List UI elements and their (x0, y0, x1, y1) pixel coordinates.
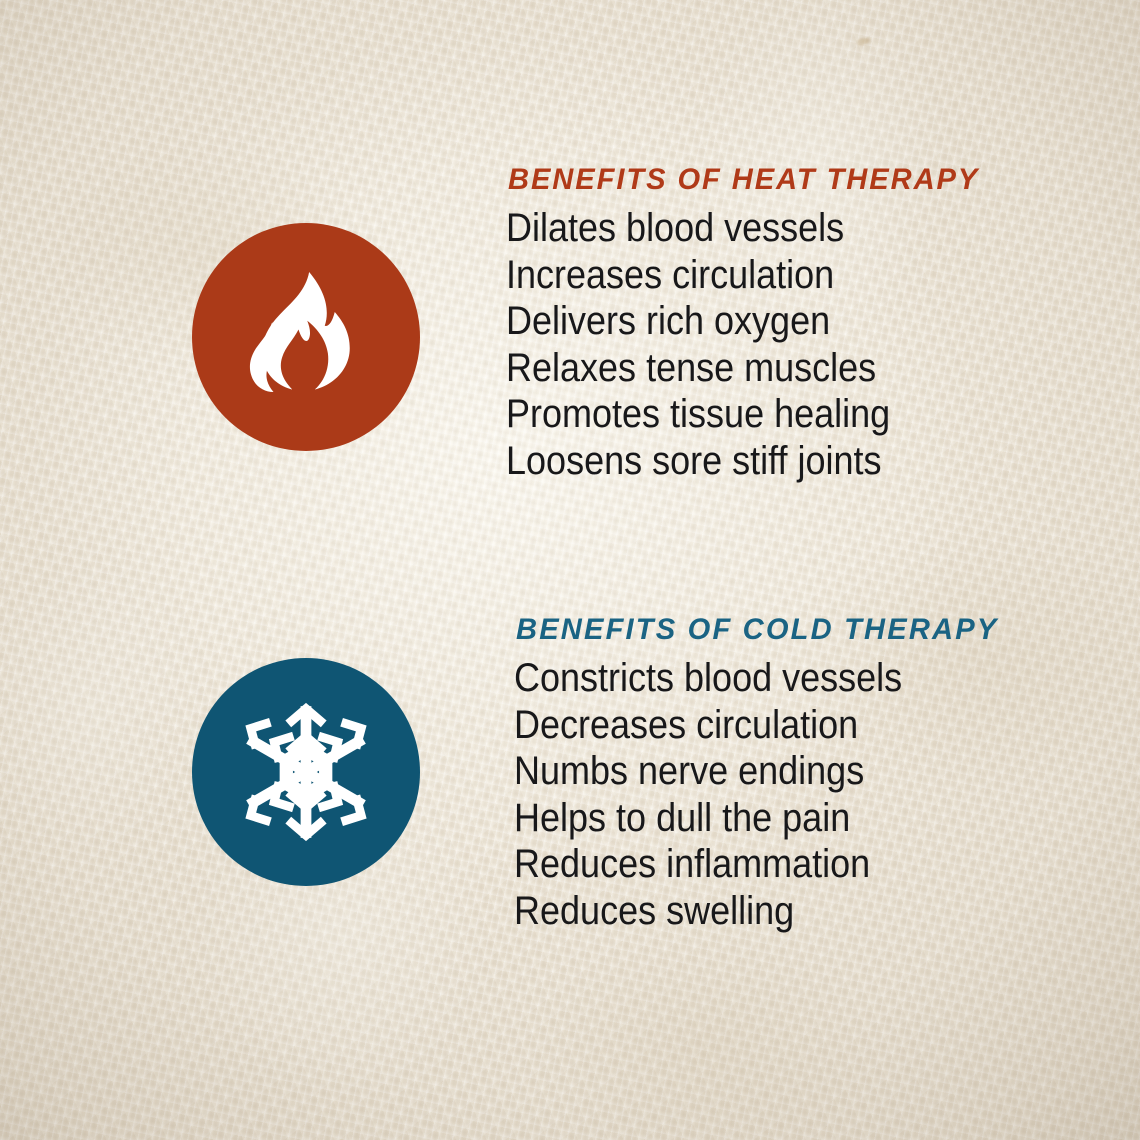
list-item: Constricts blood vessels (514, 655, 963, 702)
snowflake-icon (230, 696, 382, 848)
heat-benefits-list: Dilates blood vessels Increases circulat… (506, 205, 994, 484)
list-item: Delivers rich oxygen (506, 298, 945, 345)
list-item: Increases circulation (506, 252, 945, 299)
cold-icon-badge (192, 658, 420, 886)
list-item: Dilates blood vessels (506, 205, 945, 252)
list-item: Promotes tissue healing (506, 391, 945, 438)
paper-speck (855, 36, 870, 46)
cold-text-block: BENEFITS OF COLD THERAPY Constricts bloo… (514, 615, 1013, 934)
list-item: Numbs nerve endings (514, 748, 963, 795)
list-item: Reduces inflammation (514, 841, 963, 888)
flame-icon (231, 262, 381, 412)
heat-section-heading: BENEFITS OF HEAT THERAPY (508, 165, 979, 195)
list-item: Decreases circulation (514, 702, 963, 749)
cold-benefits-list: Constricts blood vessels Decreases circu… (514, 655, 1013, 934)
heat-icon-badge (192, 223, 420, 451)
list-item: Relaxes tense muscles (506, 345, 945, 392)
list-item: Reduces swelling (514, 888, 963, 935)
list-item: Helps to dull the pain (514, 795, 963, 842)
list-item: Loosens sore stiff joints (506, 438, 945, 485)
infographic-poster: BENEFITS OF HEAT THERAPY Dilates blood v… (0, 0, 1140, 1140)
heat-text-block: BENEFITS OF HEAT THERAPY Dilates blood v… (506, 165, 994, 484)
cold-section-heading: BENEFITS OF COLD THERAPY (516, 615, 998, 645)
